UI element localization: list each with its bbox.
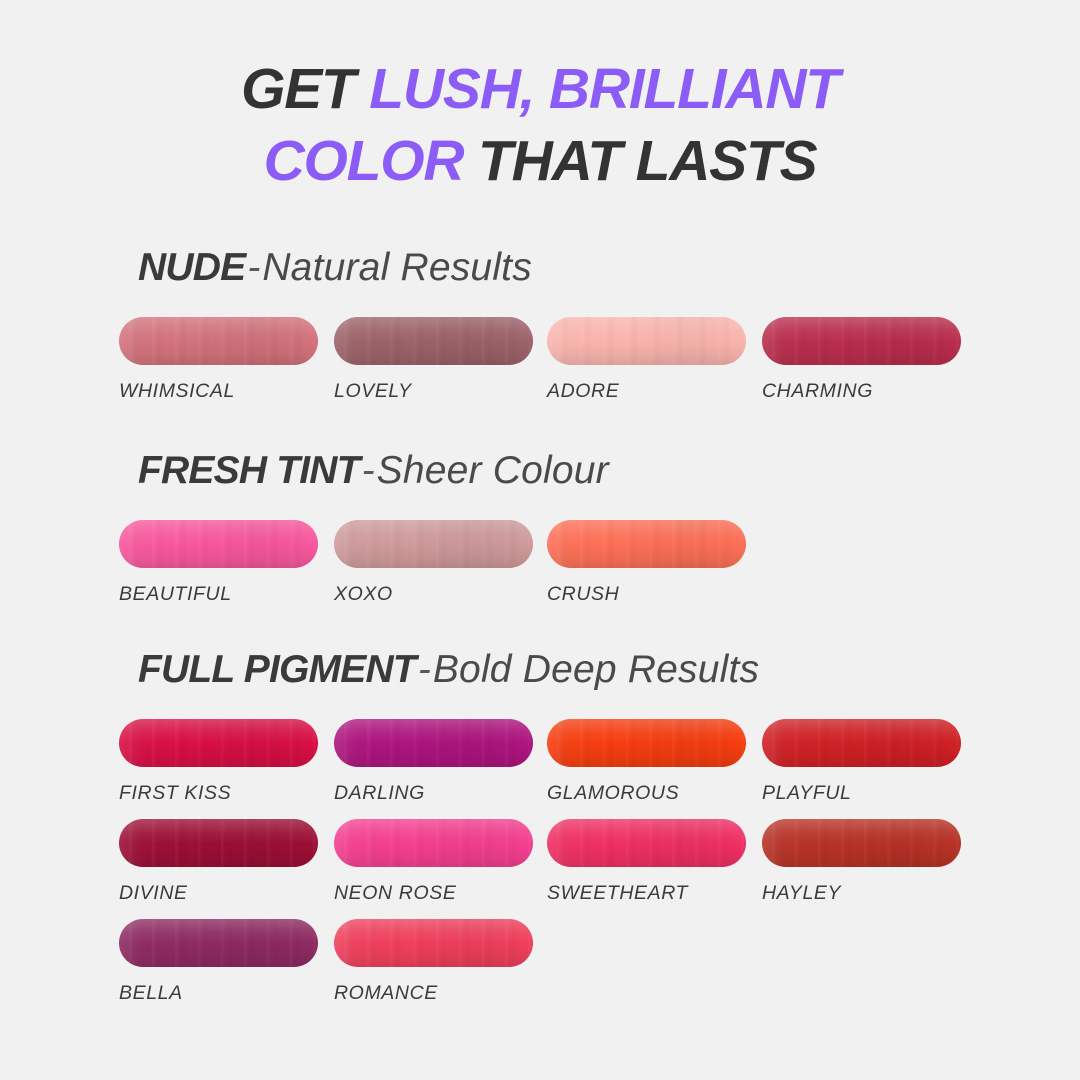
swatch-chip[interactable]	[547, 819, 746, 867]
swatch-chip[interactable]	[762, 317, 961, 365]
swatch-label: NEON ROSE	[334, 882, 533, 905]
headline-line-1-dark: GET	[241, 57, 369, 121]
section-fresh-tint-swatch-grid: BEAUTIFUL XOXO CRUSH	[0, 520, 1080, 620]
swatch-chip[interactable]	[119, 719, 318, 767]
swatch-chip[interactable]	[334, 520, 533, 568]
section-fresh-tint: FRESH TINT-Sheer Colour BEAUTIFUL XOXO C…	[0, 446, 1080, 620]
section-fresh-tint-dash: -	[360, 449, 377, 492]
swatch-cell-adore[interactable]: ADORE	[547, 317, 746, 403]
swatch-cell-crush[interactable]: CRUSH	[547, 520, 746, 606]
swatch-row: FIRST KISS DARLING GLAMOROUS PLAYFUL	[0, 719, 1080, 819]
swatch-chip[interactable]	[547, 719, 746, 767]
swatch-chip[interactable]	[334, 919, 533, 967]
section-nude-name: NUDE	[138, 246, 245, 289]
swatch-chip[interactable]	[119, 919, 318, 967]
section-full-pigment-swatch-grid: FIRST KISS DARLING GLAMOROUS PLAYFUL	[0, 719, 1080, 1019]
swatch-label: WHIMSICAL	[119, 380, 318, 403]
swatch-row: BEAUTIFUL XOXO CRUSH	[0, 520, 1080, 620]
swatch-chip[interactable]	[334, 317, 533, 365]
swatch-cell-glamorous[interactable]: GLAMOROUS	[547, 719, 746, 805]
swatch-label: BELLA	[119, 982, 318, 1005]
swatch-row: DIVINE NEON ROSE SWEETHEART HAYLEY	[0, 819, 1080, 919]
swatch-cell-darling[interactable]: DARLING	[334, 719, 533, 805]
section-full-pigment-dash: -	[416, 648, 433, 691]
section-full-pigment-name: FULL PIGMENT	[138, 648, 416, 691]
swatch-label: CRUSH	[547, 583, 746, 606]
swatch-label: SWEETHEART	[547, 882, 746, 905]
section-fresh-tint-name: FRESH TINT	[138, 449, 360, 492]
swatch-chip[interactable]	[119, 819, 318, 867]
section-nude-heading: NUDE-Natural Results	[138, 243, 1080, 293]
swatch-cell-divine[interactable]: DIVINE	[119, 819, 318, 905]
swatch-label: XOXO	[334, 583, 533, 606]
swatch-label: CHARMING	[762, 380, 961, 403]
swatch-cell-neon-rose[interactable]: NEON ROSE	[334, 819, 533, 905]
swatch-cell-charming[interactable]: CHARMING	[762, 317, 961, 403]
swatch-chip[interactable]	[119, 317, 318, 365]
headline-line-1-accent: LUSH, BRILLIANT	[369, 57, 839, 121]
swatch-label: GLAMOROUS	[547, 782, 746, 805]
section-nude-dash: -	[245, 246, 262, 289]
swatch-label: PLAYFUL	[762, 782, 961, 805]
page-title: GET LUSH, BRILLIANT COLOR THAT LASTS	[0, 54, 1080, 198]
swatch-row: WHIMSICAL LOVELY ADORE CHARMING	[0, 317, 1080, 417]
swatch-label: ADORE	[547, 380, 746, 403]
section-full-pigment: FULL PIGMENT-Bold Deep Results FIRST KIS…	[0, 645, 1080, 1019]
section-nude: NUDE-Natural Results WHIMSICAL LOVELY AD…	[0, 243, 1080, 417]
swatch-label: BEAUTIFUL	[119, 583, 318, 606]
headline-line-2-dark: THAT LASTS	[478, 129, 816, 193]
swatch-cell-whimsical[interactable]: WHIMSICAL	[119, 317, 318, 403]
swatch-cell-beautiful[interactable]: BEAUTIFUL	[119, 520, 318, 606]
swatch-cell-sweetheart[interactable]: SWEETHEART	[547, 819, 746, 905]
swatch-cell-first-kiss[interactable]: FIRST KISS	[119, 719, 318, 805]
swatch-cell-bella[interactable]: BELLA	[119, 919, 318, 1005]
swatch-label: DIVINE	[119, 882, 318, 905]
swatch-chip[interactable]	[547, 317, 746, 365]
section-full-pigment-description: Bold Deep Results	[433, 648, 759, 691]
section-nude-swatch-grid: WHIMSICAL LOVELY ADORE CHARMING	[0, 317, 1080, 417]
swatch-cell-romance[interactable]: ROMANCE	[334, 919, 533, 1005]
swatch-cell-lovely[interactable]: LOVELY	[334, 317, 533, 403]
swatch-label: ROMANCE	[334, 982, 533, 1005]
shade-chart-page: GET LUSH, BRILLIANT COLOR THAT LASTS NUD…	[0, 0, 1080, 1080]
headline-line-2-accent: COLOR	[264, 129, 478, 193]
swatch-chip[interactable]	[119, 520, 318, 568]
section-full-pigment-heading: FULL PIGMENT-Bold Deep Results	[138, 645, 1080, 695]
swatch-label: FIRST KISS	[119, 782, 318, 805]
swatch-label: LOVELY	[334, 380, 533, 403]
swatch-cell-xoxo[interactable]: XOXO	[334, 520, 533, 606]
swatch-cell-hayley[interactable]: HAYLEY	[762, 819, 961, 905]
swatch-chip[interactable]	[334, 819, 533, 867]
section-fresh-tint-description: Sheer Colour	[377, 449, 609, 492]
swatch-chip[interactable]	[334, 719, 533, 767]
swatch-label: DARLING	[334, 782, 533, 805]
swatch-cell-playful[interactable]: PLAYFUL	[762, 719, 961, 805]
headline-line-1: GET LUSH, BRILLIANT	[0, 54, 1080, 126]
section-nude-description: Natural Results	[262, 246, 532, 289]
swatch-label: HAYLEY	[762, 882, 961, 905]
section-fresh-tint-heading: FRESH TINT-Sheer Colour	[138, 446, 1080, 496]
swatch-row: BELLA ROMANCE	[0, 919, 1080, 1019]
headline-line-2: COLOR THAT LASTS	[0, 126, 1080, 198]
swatch-chip[interactable]	[547, 520, 746, 568]
swatch-chip[interactable]	[762, 719, 961, 767]
swatch-chip[interactable]	[762, 819, 961, 867]
